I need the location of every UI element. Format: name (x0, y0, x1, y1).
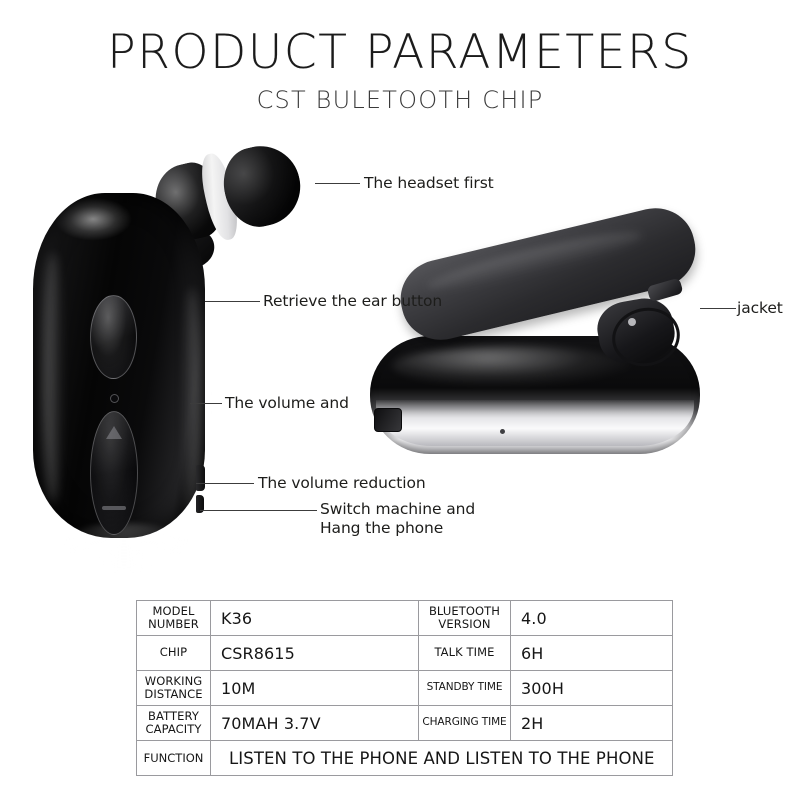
cell-value-bluetooth-version: 4.0 (511, 601, 673, 636)
cell-label-charging-time: CHARGING TIME (419, 706, 511, 741)
clip-body-highlight (392, 346, 632, 386)
leader-line-volume-reduction (196, 483, 254, 484)
body-highlight-bottom (59, 523, 189, 571)
cell-label-working-distance: WORKING DISTANCE (137, 671, 211, 706)
cell-label-battery-capacity: BATTERY CAPACITY (137, 706, 211, 741)
infographic-page: PRODUCT PARAMETERS CST BULETOOTH CHIP (0, 0, 800, 800)
cell-value-talk-time: 6H (511, 636, 673, 671)
clip-arm-highlight (425, 223, 645, 298)
table-row: WORKING DISTANCE 10M STANDBY TIME 300H (137, 671, 673, 706)
cell-value-model-number: K36 (211, 601, 419, 636)
charging-port (374, 408, 402, 432)
specifications-table: MODEL NUMBER K36 BLUETOOTH VERSION 4.0 C… (136, 600, 673, 776)
table-row: BATTERY CAPACITY 70MAH 3.7V CHARGING TIM… (137, 706, 673, 741)
leader-line-volume-and (190, 403, 222, 404)
leader-line-switch-machine (200, 510, 317, 511)
cell-value-charging-time: 2H (511, 706, 673, 741)
callout-volume-and: The volume and (225, 394, 349, 413)
cell-label-function: FUNCTION (137, 741, 211, 776)
volume-up-icon (106, 426, 122, 439)
leader-line-retrieve-ear (205, 301, 260, 302)
page-title: PRODUCT PARAMETERS (0, 26, 800, 80)
cell-value-working-distance: 10M (211, 671, 419, 706)
product-image-earphone-clip (362, 222, 710, 484)
callout-headset-first: The headset first (364, 174, 494, 193)
clip-hinge-pin (628, 318, 636, 326)
cell-value-standby-time: 300H (511, 671, 673, 706)
volume-rocker-button (90, 411, 138, 535)
chrome-rim (376, 400, 694, 446)
volume-down-icon (102, 506, 126, 510)
callout-jacket: jacket (737, 299, 783, 318)
cell-value-battery-capacity: 70MAH 3.7V (211, 706, 419, 741)
microphone-hole (500, 429, 505, 434)
side-button-upper (196, 465, 205, 491)
cell-label-chip: CHIP (137, 636, 211, 671)
body-highlight-left (43, 253, 63, 503)
callout-retrieve-ear-button: Retrieve the ear button (263, 292, 442, 311)
table-row: CHIP CSR8615 TALK TIME 6H (137, 636, 673, 671)
callout-volume-reduction: The volume reduction (258, 474, 426, 493)
leader-line-headset-first (315, 183, 360, 184)
cell-value-function: LISTEN TO THE PHONE AND LISTEN TO THE PH… (211, 741, 673, 776)
table-row: MODEL NUMBER K36 BLUETOOTH VERSION 4.0 (137, 601, 673, 636)
cell-label-bluetooth-version: BLUETOOTH VERSION (419, 601, 511, 636)
page-subtitle: CST BULETOOTH CHIP (0, 86, 800, 114)
cell-value-chip: CSR8615 (211, 636, 419, 671)
callout-switch-machine: Switch machine and Hang the phone (320, 500, 475, 538)
cell-label-model-number: MODEL NUMBER (137, 601, 211, 636)
cell-label-standby-time: STANDBY TIME (419, 671, 511, 706)
table-row-function: FUNCTION LISTEN TO THE PHONE AND LISTEN … (137, 741, 673, 776)
led-indicator-icon (110, 394, 119, 403)
leader-line-jacket (700, 308, 736, 309)
retract-button (90, 295, 137, 379)
cell-label-talk-time: TALK TIME (419, 636, 511, 671)
